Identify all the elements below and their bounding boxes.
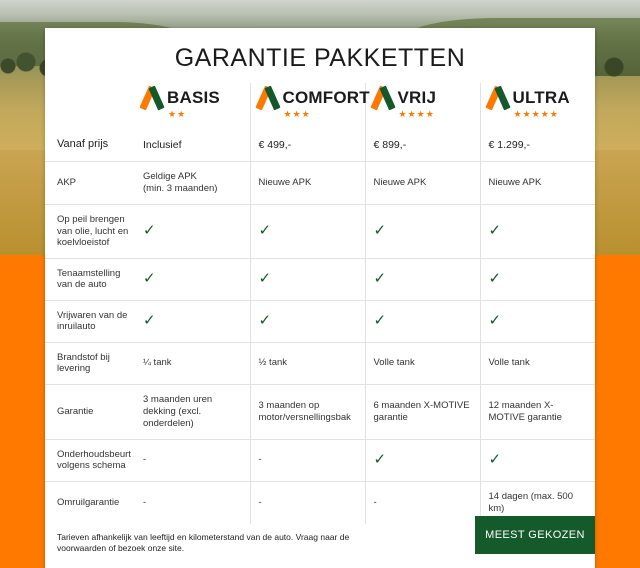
- row-value: 3 maanden uren dekking (excl. onderdelen…: [135, 384, 250, 439]
- row-label: Brandstof bij levering: [45, 342, 135, 384]
- package-name-ultra: ULTRA: [513, 88, 570, 108]
- row-label: Onderhoudsbeurt volgens schema: [45, 439, 135, 481]
- row-value: ✓: [365, 205, 480, 259]
- row-value: ✓: [480, 300, 595, 342]
- row-value: -: [365, 481, 480, 524]
- page-title: GARANTIE PAKKETTEN: [45, 28, 595, 83]
- table-header-row: BASIS ★★ COMFORT ★★★: [45, 83, 595, 129]
- package-name-basis: BASIS: [167, 88, 220, 108]
- package-name-vrij: VRIJ: [398, 88, 437, 108]
- x-motive-logo-icon: [259, 87, 280, 108]
- package-header-vrij: VRIJ ★★★★: [365, 83, 480, 129]
- package-header-basis: BASIS ★★: [135, 83, 250, 129]
- price-comfort: € 499,-: [250, 129, 365, 162]
- table-row: Op peil brengen van olie, lucht en koelv…: [45, 205, 595, 259]
- row-value: Volle tank: [480, 342, 595, 384]
- meest-gekozen-button[interactable]: MEEST GEKOZEN: [475, 516, 595, 554]
- header-spacer: [45, 83, 135, 129]
- x-motive-logo-icon: [143, 87, 164, 108]
- page-root: GARANTIE PAKKETTEN BASIS ★★: [0, 0, 640, 480]
- row-label: Op peil brengen van olie, lucht en koelv…: [45, 205, 135, 259]
- row-value: -: [250, 439, 365, 481]
- row-value: Geldige APK (min. 3 maanden): [135, 162, 250, 205]
- row-value: 6 maanden X-MOTIVE garantie: [365, 384, 480, 439]
- row-value: ✓: [365, 300, 480, 342]
- row-value: Nieuwe APK: [365, 162, 480, 205]
- x-motive-logo-icon: [374, 87, 395, 108]
- price-row-label: Vanaf prijs: [45, 129, 135, 162]
- row-value: ✓: [480, 439, 595, 481]
- price-row: Vanaf prijs Inclusief € 499,- € 899,- € …: [45, 129, 595, 162]
- row-value: Volle tank: [365, 342, 480, 384]
- row-value: ✓: [250, 205, 365, 259]
- row-label: Tenaamstelling van de auto: [45, 258, 135, 300]
- row-value: ¼ tank: [135, 342, 250, 384]
- row-value: 3 maanden op motor/versnellingsbak: [250, 384, 365, 439]
- row-label: Omruilgarantie: [45, 481, 135, 524]
- table-row: Tenaamstelling van de auto ✓ ✓ ✓ ✓: [45, 258, 595, 300]
- row-value: ✓: [480, 205, 595, 259]
- x-motive-logo-icon: [489, 87, 510, 108]
- pricing-card: GARANTIE PAKKETTEN BASIS ★★: [45, 28, 595, 568]
- row-value: 12 maanden X-MOTIVE garantie: [480, 384, 595, 439]
- row-label: AKP: [45, 162, 135, 205]
- packages-table: BASIS ★★ COMFORT ★★★: [45, 83, 595, 524]
- row-value: ✓: [135, 258, 250, 300]
- row-value: ½ tank: [250, 342, 365, 384]
- table-row: Brandstof bij levering ¼ tank ½ tank Vol…: [45, 342, 595, 384]
- row-value: ✓: [250, 300, 365, 342]
- package-header-comfort: COMFORT ★★★: [250, 83, 365, 129]
- table-row: Onderhoudsbeurt volgens schema - - ✓ ✓: [45, 439, 595, 481]
- row-value: -: [250, 481, 365, 524]
- row-value: Nieuwe APK: [250, 162, 365, 205]
- table-row: Garantie 3 maanden uren dekking (excl. o…: [45, 384, 595, 439]
- row-label: Vrijwaren van de inruilauto: [45, 300, 135, 342]
- row-value: ✓: [135, 300, 250, 342]
- row-value: Nieuwe APK: [480, 162, 595, 205]
- row-value: ✓: [250, 258, 365, 300]
- row-value: -: [135, 439, 250, 481]
- price-ultra: € 1.299,-: [480, 129, 595, 162]
- row-value: ✓: [365, 258, 480, 300]
- package-stars-comfort: ★★★: [284, 109, 311, 119]
- price-vrij: € 899,-: [365, 129, 480, 162]
- package-stars-vrij: ★★★★: [399, 109, 435, 119]
- card-footer: Tarieven afhankelijk van leeftijd en kil…: [45, 524, 595, 568]
- row-value: ✓: [365, 439, 480, 481]
- package-header-ultra: ULTRA ★★★★★: [480, 83, 595, 129]
- table-row: AKP Geldige APK (min. 3 maanden) Nieuwe …: [45, 162, 595, 205]
- price-basis: Inclusief: [135, 129, 250, 162]
- table-row: Vrijwaren van de inruilauto ✓ ✓ ✓ ✓: [45, 300, 595, 342]
- row-value: ✓: [135, 205, 250, 259]
- row-value: ✓: [480, 258, 595, 300]
- package-name-comfort: COMFORT: [283, 88, 370, 108]
- row-label: Garantie: [45, 384, 135, 439]
- package-stars-ultra: ★★★★★: [514, 109, 559, 119]
- row-value: -: [135, 481, 250, 524]
- package-stars-basis: ★★: [168, 109, 186, 119]
- footer-disclaimer: Tarieven afhankelijk van leeftijd en kil…: [57, 532, 357, 554]
